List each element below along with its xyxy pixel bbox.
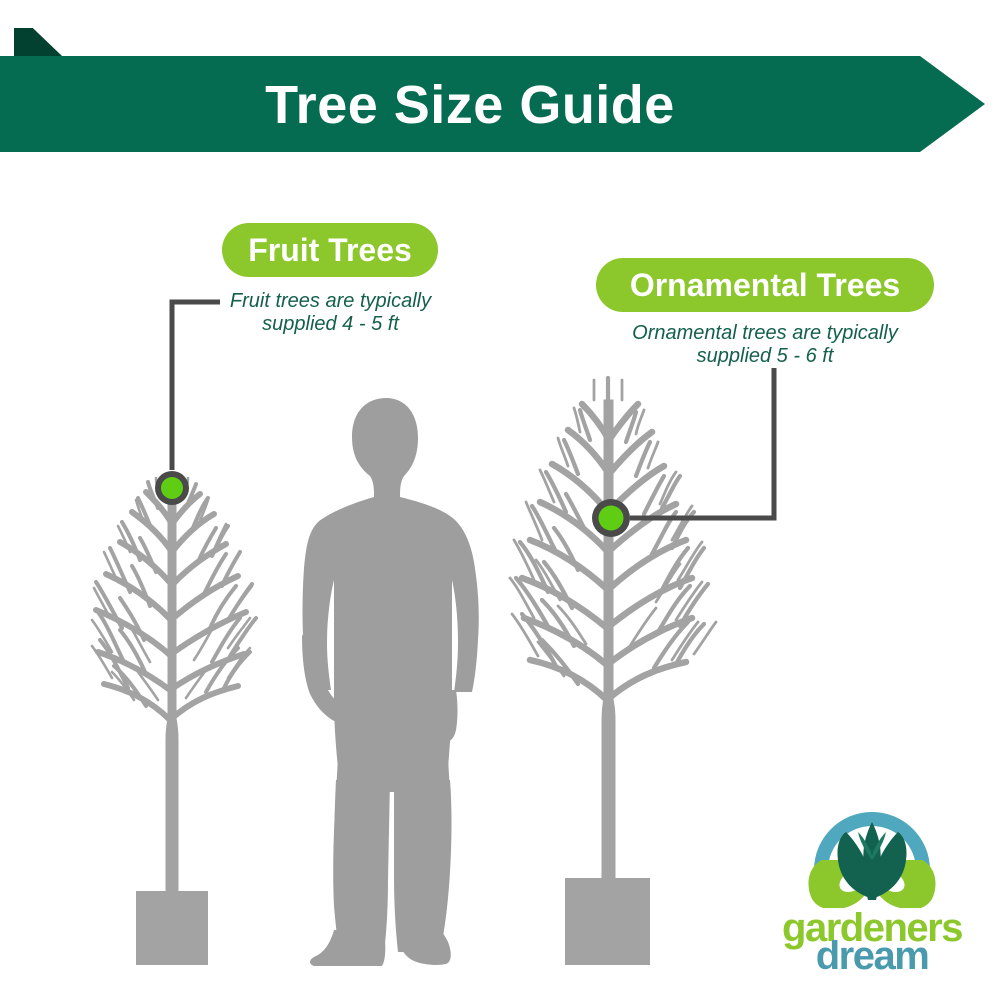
fruit-tree-illustration <box>92 478 256 965</box>
ornamental-tree-twigs <box>510 380 716 676</box>
fruit-tree-trunk <box>166 705 178 893</box>
fruit-size-marker[interactable] <box>155 471 189 505</box>
ornamental-callout-leader <box>630 368 774 518</box>
ornamental-tree-leader <box>604 400 613 720</box>
ornamental-tree-pot <box>565 878 650 965</box>
ornamental-leader-path <box>630 368 774 518</box>
fruit-trees-label[interactable]: Fruit Trees <box>222 223 438 277</box>
person-right-shoe <box>398 930 451 965</box>
ornamental-tree-secondary-branches <box>516 378 708 684</box>
fruit-caption-line-2: supplied 4 - 5 ft <box>198 313 463 336</box>
fruit-marker-dot <box>161 477 183 499</box>
person-hips <box>336 758 450 792</box>
person-right-hand <box>428 690 458 743</box>
logo-center-leaf-icon <box>863 822 881 900</box>
brand-logo[interactable]: gardeners dream <box>752 808 992 980</box>
ornamental-marker-dot <box>599 506 624 531</box>
gardenersdream-plant-hands-logo-icon <box>752 808 992 908</box>
person-right-leg-body <box>394 780 452 952</box>
ornamental-tree-illustration <box>510 378 716 965</box>
logo-wordmark-bottom: dream <box>752 934 992 979</box>
person-left-leg <box>333 780 364 952</box>
fruit-trees-caption: Fruit trees are typically supplied 4 - 5… <box>198 290 463 336</box>
fruit-trees-label-text: Fruit Trees <box>248 232 412 269</box>
ornamental-trees-caption: Ornamental trees are typically supplied … <box>600 322 930 368</box>
ornamental-trees-label[interactable]: Ornamental Trees <box>596 258 934 312</box>
ornamental-caption-line-1: Ornamental trees are typically <box>600 322 930 345</box>
fruit-marker-ring <box>155 471 189 505</box>
person-left-shoe <box>310 930 385 966</box>
person-torso <box>303 497 479 768</box>
header-banner: Tree Size Guide <box>0 28 1000 156</box>
ornamental-caption-line-2: supplied 5 - 6 ft <box>600 345 930 368</box>
ornamental-size-marker[interactable] <box>592 499 630 537</box>
ornamental-tree-trunk <box>602 682 615 880</box>
fruit-tree-twigs <box>92 478 252 700</box>
banner-fold-icon <box>14 28 62 56</box>
infographic-canvas: Tree Size Guide <box>0 0 1000 1000</box>
fruit-caption-line-1: Fruit trees are typically <box>198 290 463 313</box>
fruit-tree-pot <box>136 891 208 965</box>
person-silhouette <box>302 398 479 966</box>
person-left-leg-body <box>334 780 390 952</box>
person-head <box>352 398 418 497</box>
ornamental-tree-primary-branches <box>522 404 692 700</box>
person-left-arm <box>302 620 352 722</box>
ornamental-trees-label-text: Ornamental Trees <box>630 267 900 304</box>
fruit-tree-leader <box>168 500 176 740</box>
fruit-tree-secondary-branches <box>96 478 256 706</box>
page-title: Tree Size Guide <box>0 75 940 135</box>
fruit-tree-primary-branches <box>96 492 246 720</box>
ornamental-marker-ring <box>592 499 630 537</box>
